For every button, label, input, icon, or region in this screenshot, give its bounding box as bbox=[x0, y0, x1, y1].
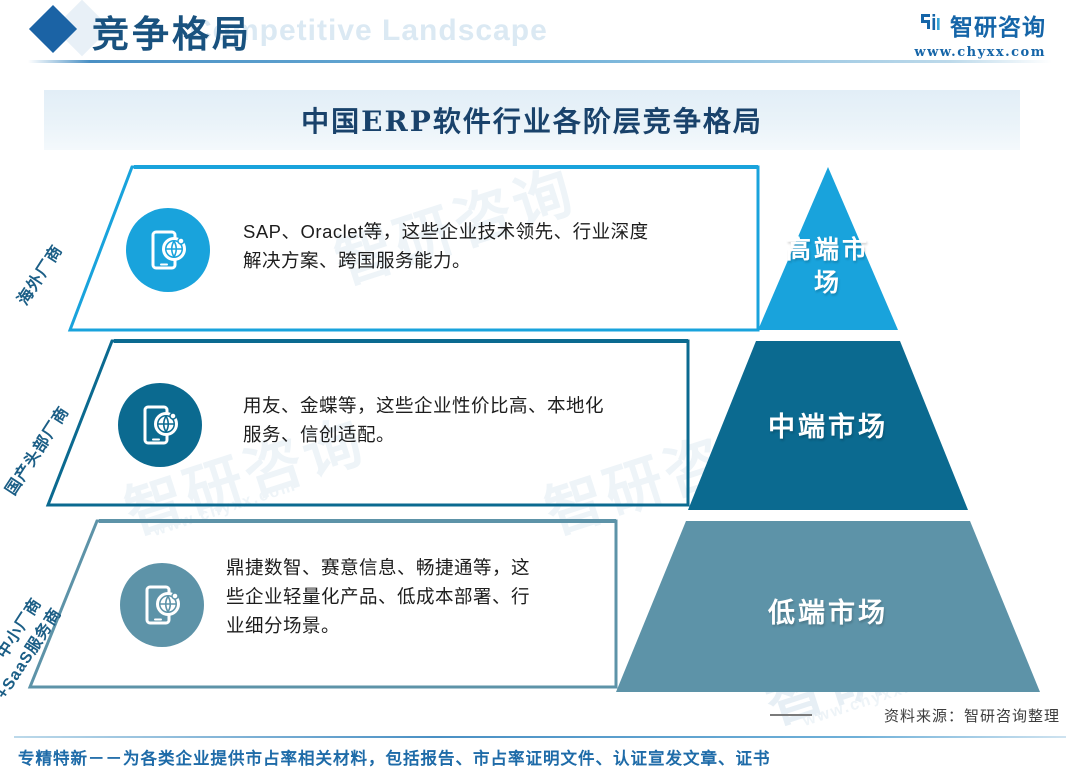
tier-description-high-line1: SAP、Oraclet等，这些企业技术领先、行业深度 bbox=[243, 217, 743, 246]
tier-description-mid-line2: 服务、信创适配。 bbox=[243, 420, 703, 449]
chart-title: 中国ERP软件行业各阶层竞争格局 bbox=[301, 100, 763, 140]
chart-title-band: 中国ERP软件行业各阶层竞争格局 bbox=[44, 90, 1020, 150]
tier-description-mid: 用友、金蝶等，这些企业性价比高、本地化 服务、信创适配。 bbox=[243, 391, 703, 449]
tier-description-mid-line1: 用友、金蝶等，这些企业性价比高、本地化 bbox=[243, 391, 703, 420]
brand-url: www.chyxx.com bbox=[914, 45, 1046, 60]
mobile-globe-icon bbox=[146, 228, 190, 272]
callout-accent-low bbox=[99, 519, 616, 523]
page-header: Competitive Landscape 竞争格局 智研咨询 www.chyx… bbox=[0, 0, 1080, 72]
source-dash bbox=[770, 714, 812, 716]
tier-description-high: SAP、Oraclet等，这些企业技术领先、行业深度 解决方案、跨国服务能力。 bbox=[243, 217, 743, 275]
tier-description-low-line2: 些企业轻量化产品、低成本部署、行 bbox=[226, 582, 626, 611]
pyramid-label-high-text: 高端市场 bbox=[778, 233, 878, 299]
callout-accent-mid bbox=[114, 339, 688, 343]
pyramid-label-low: 低端市场 bbox=[748, 591, 908, 630]
tier-description-high-line2: 解决方案、跨国服务能力。 bbox=[243, 246, 743, 275]
mobile-globe-icon bbox=[140, 583, 184, 627]
footer-note: 专精特新－－为各类企业提供市占率相关材料，包括报告、市占率证明文件、认证宣发文章… bbox=[18, 745, 771, 769]
brand-name: 智研咨询 bbox=[950, 8, 1046, 42]
pyramid-label-mid: 中端市场 bbox=[748, 405, 908, 444]
pyramid-label-low-text: 低端市场 bbox=[748, 591, 908, 630]
source-note: 资料来源：智研咨询整理 bbox=[884, 705, 1060, 726]
tier-description-low-line1: 鼎捷数智、赛意信息、畅捷通等，这 bbox=[226, 553, 626, 582]
tier-description-low-line3: 业细分场景。 bbox=[226, 611, 626, 640]
tier-icon-mid bbox=[118, 383, 202, 467]
tier-icon-low bbox=[120, 563, 204, 647]
brand-block: 智研咨询 www.chyxx.com bbox=[914, 8, 1046, 60]
callout-accent-high bbox=[134, 165, 758, 169]
mobile-globe-icon bbox=[138, 403, 182, 447]
chyxx-logo-icon bbox=[917, 10, 943, 41]
tier-icon-high bbox=[126, 208, 210, 292]
page-title: 竞争格局 bbox=[92, 4, 252, 58]
tier-description-low: 鼎捷数智、赛意信息、畅捷通等，这 些企业轻量化产品、低成本部署、行 业细分场景。 bbox=[226, 553, 626, 641]
pyramid-figure: 海外厂商 SAP、Oraclet等，这些企业技术领先、行业深度 解决方案、跨国服… bbox=[0, 155, 1080, 700]
pyramid-label-high: 高端市场 bbox=[778, 233, 878, 299]
footer-divider bbox=[14, 736, 1066, 738]
pyramid-label-mid-text: 中端市场 bbox=[748, 405, 908, 444]
header-divider bbox=[28, 60, 1052, 63]
